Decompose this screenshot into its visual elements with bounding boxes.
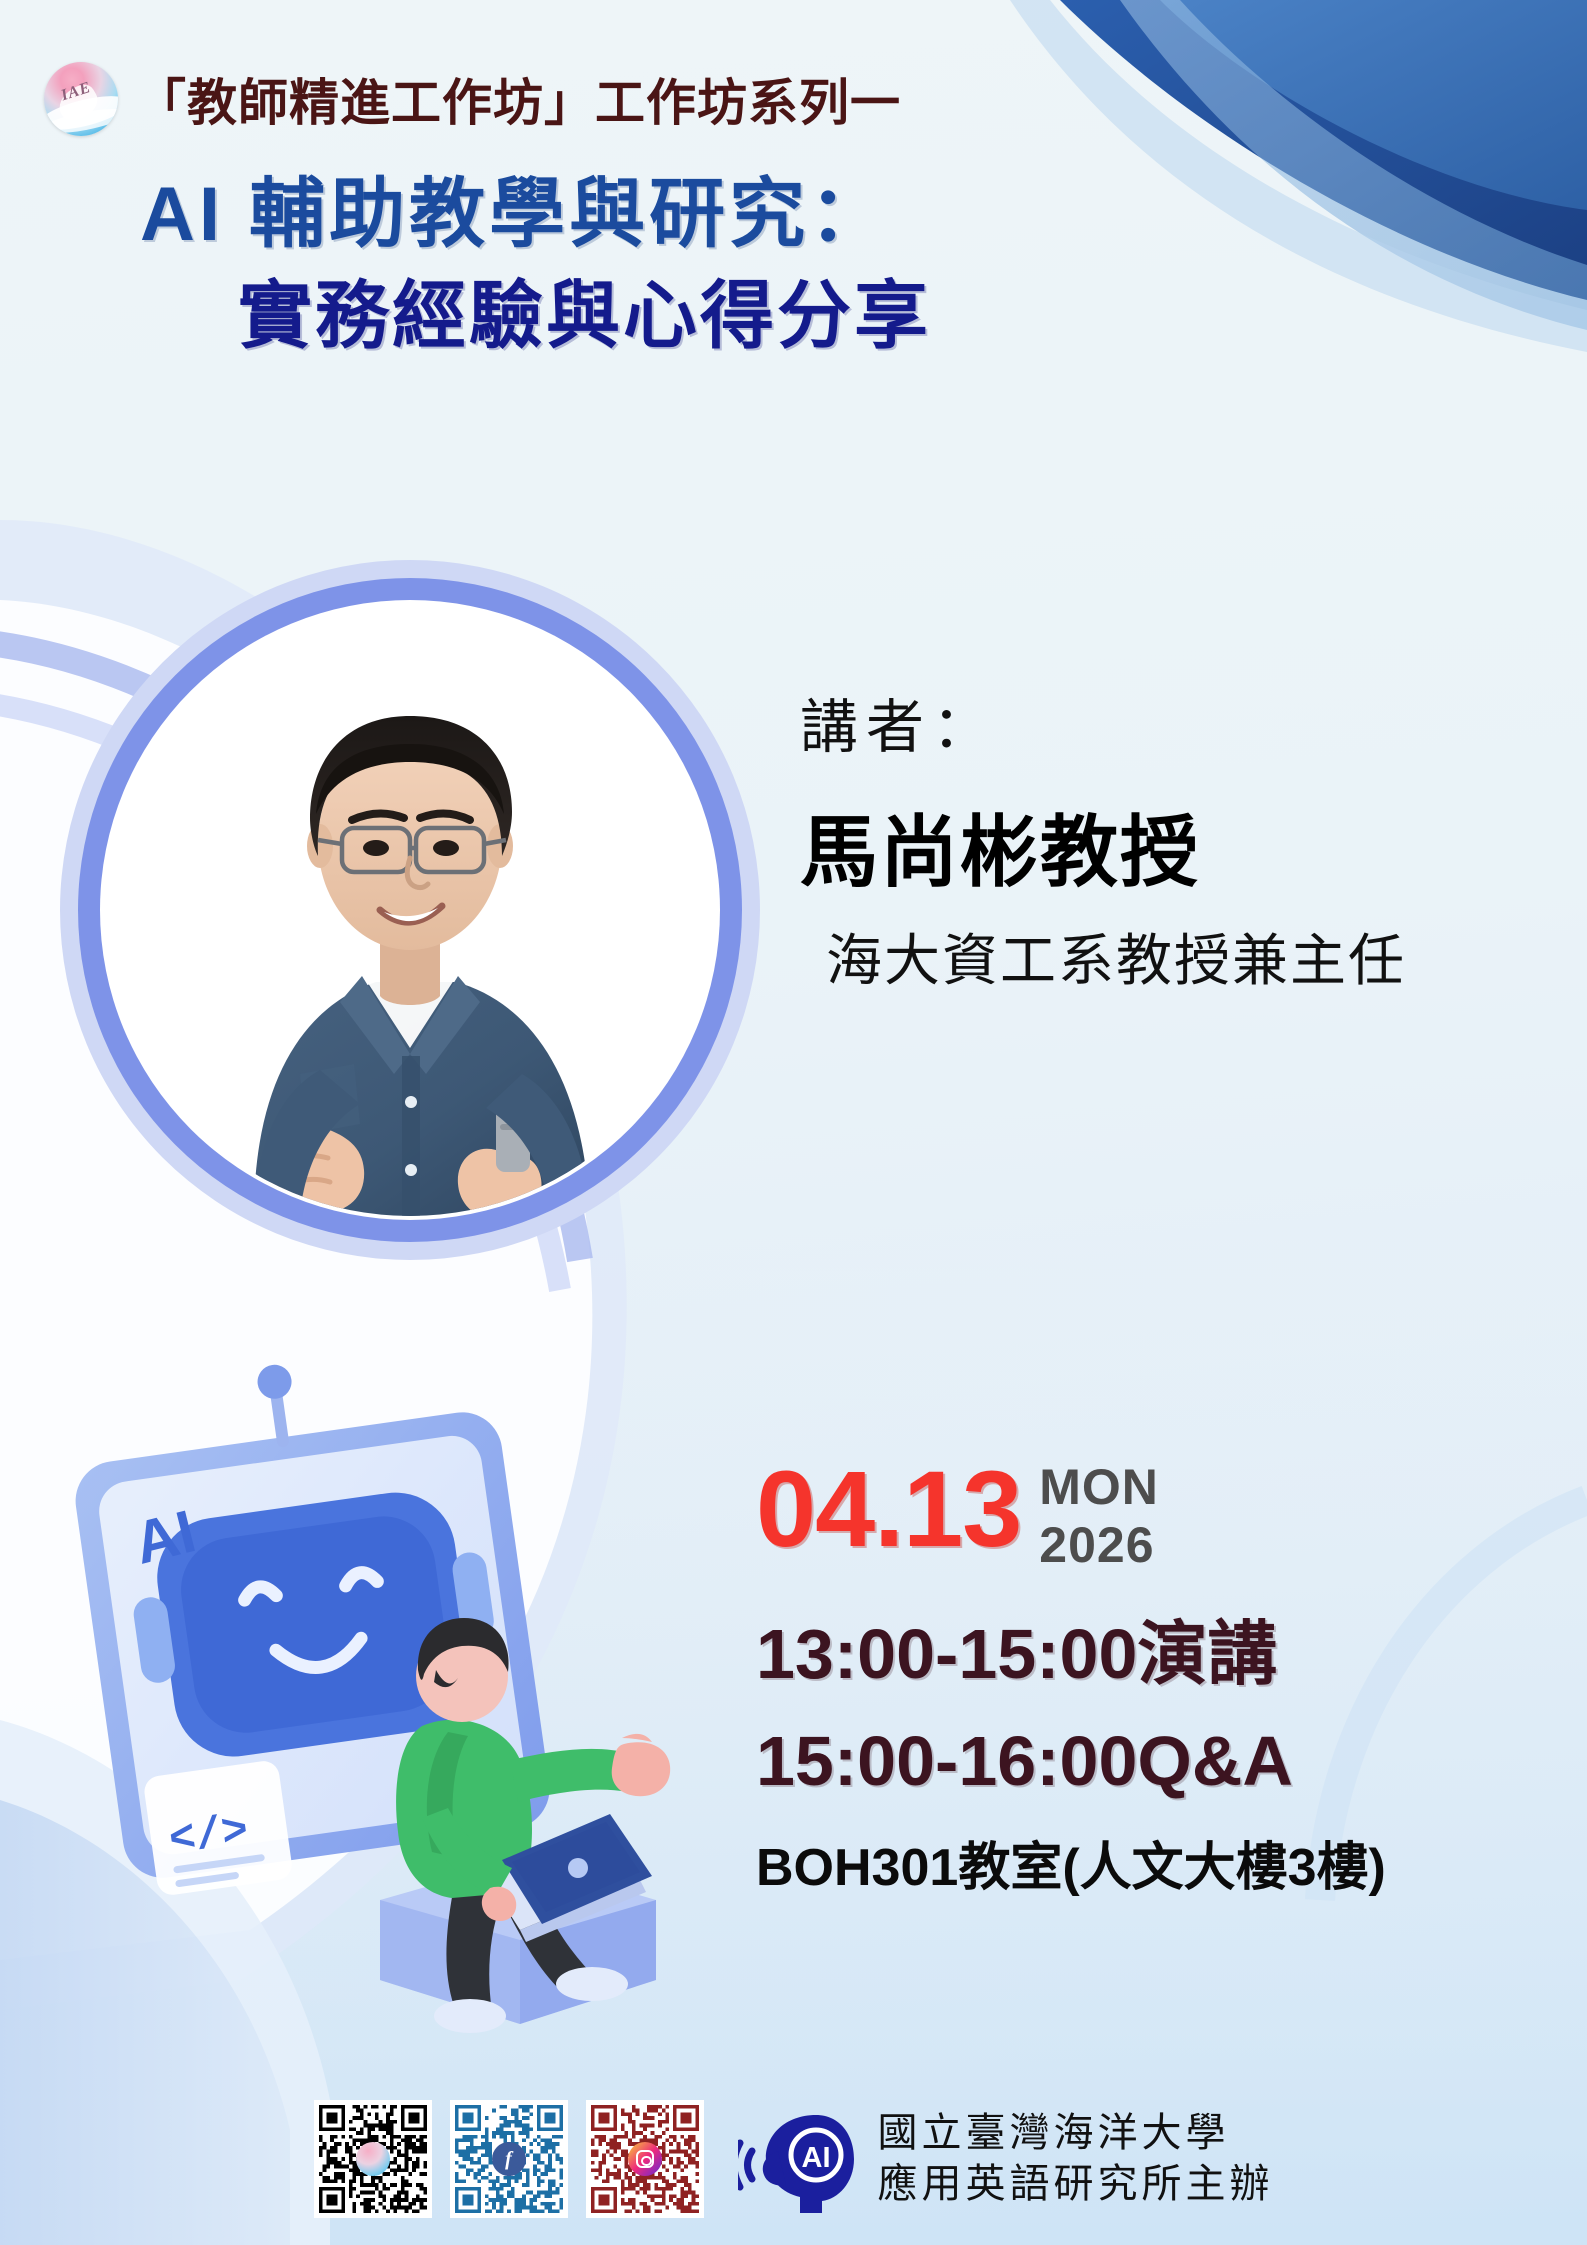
speaker-portrait-illustration: [104, 604, 716, 1216]
poster-title-line-2: 實務經驗與心得分享: [238, 256, 931, 363]
poster-title-line-1: AI 輔助教學與研究：: [140, 152, 889, 262]
speaker-portrait: [104, 604, 716, 1216]
event-time-line-2: 15:00-16:00Q&A: [756, 1721, 1536, 1801]
ai-illustration-svg: AI </>: [50, 1340, 810, 2060]
facebook-icon: f: [492, 2142, 526, 2176]
event-day-of-week: MON: [1039, 1461, 1159, 1514]
poster-root: IAE 「教師精進工作坊」工作坊系列一 AI 輔助教學與研究： 實務經驗與心得分…: [0, 0, 1587, 2245]
series-label: 「教師精進工作坊」工作坊系列一: [136, 63, 901, 135]
ai-head-speaking-icon: AI: [738, 2099, 858, 2219]
event-venue: BOH301教室(人文大樓3樓): [756, 1825, 1536, 1900]
svg-text:AI: AI: [801, 2142, 830, 2174]
poster-footer: f AI 國立臺灣海洋大學: [0, 2099, 1587, 2219]
iae-institute-logo-icon: IAE: [44, 62, 118, 136]
school-logo-icon: [356, 2142, 390, 2176]
qr-code-group: f: [314, 2100, 704, 2218]
event-date-side: MON 2026: [1039, 1455, 1159, 1576]
event-year: 2026: [1039, 1514, 1159, 1577]
speaker-name: 馬尚彬教授: [800, 790, 1406, 902]
event-date-row: 04.13 MON 2026: [756, 1455, 1536, 1576]
event-time-line-1: 13:00-15:00演講: [756, 1598, 1536, 1699]
ai-illustration: AI </>: [50, 1340, 810, 2060]
organizer-text: 國立臺灣海洋大學 應用英語研究所主辦: [878, 2108, 1274, 2210]
instagram-icon: [628, 2142, 662, 2176]
event-info: 04.13 MON 2026 13:00-15:00演講 15:00-16:00…: [756, 1455, 1536, 1900]
speaker-info: 講者： 馬尚彬教授 海大資工系教授兼主任: [800, 680, 1406, 997]
event-date: 04.13: [756, 1455, 1021, 1563]
organizer-line-1: 國立臺灣海洋大學: [878, 2108, 1274, 2159]
organizer-block: AI 國立臺灣海洋大學 應用英語研究所主辦: [738, 2099, 1274, 2219]
speaker-role: 海大資工系教授兼主任: [826, 916, 1406, 997]
speaker-label: 講者：: [800, 680, 1406, 764]
organizer-line-2: 應用英語研究所主辦: [878, 2159, 1274, 2210]
facebook-qr[interactable]: f: [450, 2100, 568, 2218]
school-website-qr[interactable]: [314, 2100, 432, 2218]
speaker-photo-frame: [60, 560, 760, 1260]
series-row: IAE 「教師精進工作坊」工作坊系列一: [44, 62, 901, 136]
instagram-qr[interactable]: [586, 2100, 704, 2218]
